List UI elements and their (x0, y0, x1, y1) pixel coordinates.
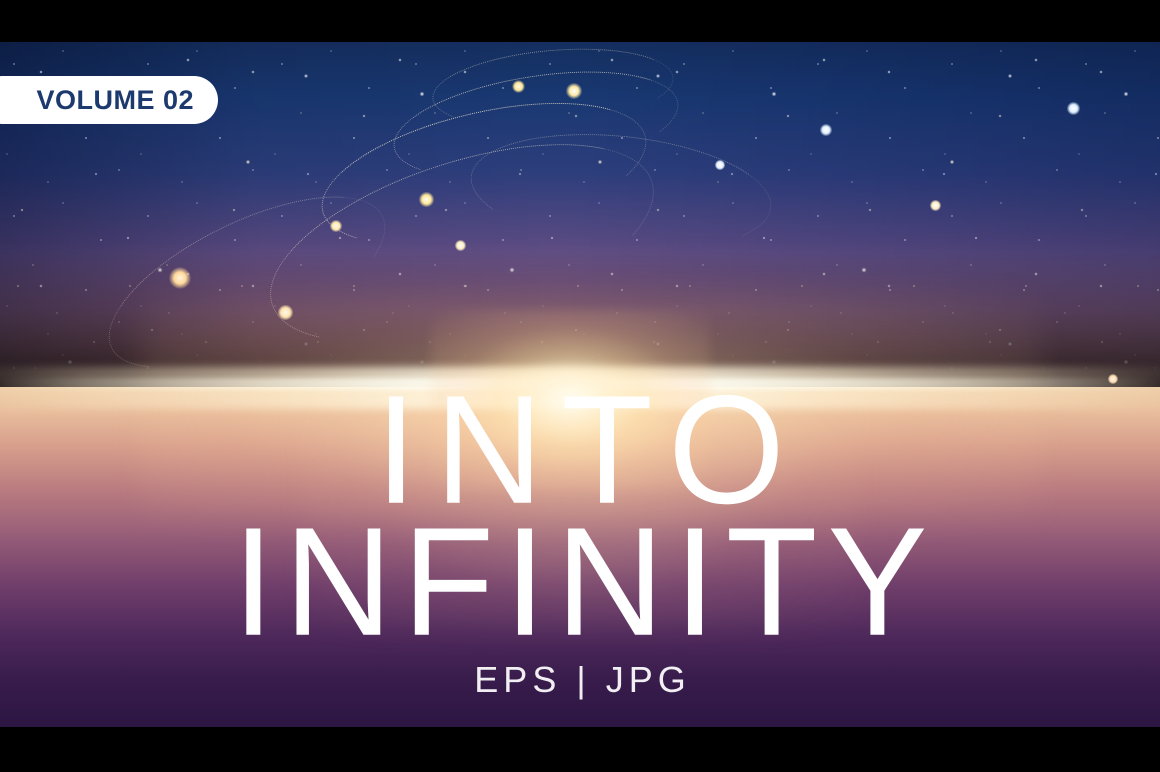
hero-star-e (455, 240, 466, 251)
letterbox-bottom-bar (0, 727, 1160, 772)
hero-star-k (715, 160, 725, 170)
hero-star-g (278, 305, 293, 320)
hero-star-d (330, 220, 342, 232)
poster-canvas: INTO INFINITY EPS | JPG VOLUME 02 (0, 0, 1160, 772)
ground-plane-gradient (0, 387, 1160, 727)
hero-star-l (1108, 374, 1118, 384)
hero-star-h (820, 124, 832, 136)
volume-badge: VOLUME 02 (0, 76, 218, 124)
volume-badge-label: VOLUME 02 (36, 87, 194, 114)
letterbox-top-bar (0, 0, 1160, 42)
hero-star-i (1067, 102, 1080, 115)
artwork-stage (0, 42, 1160, 727)
hero-star-a (512, 80, 525, 93)
hero-star-f (169, 267, 191, 289)
hero-star-b (566, 83, 582, 99)
hero-star-c (419, 192, 434, 207)
hero-star-j (930, 200, 941, 211)
